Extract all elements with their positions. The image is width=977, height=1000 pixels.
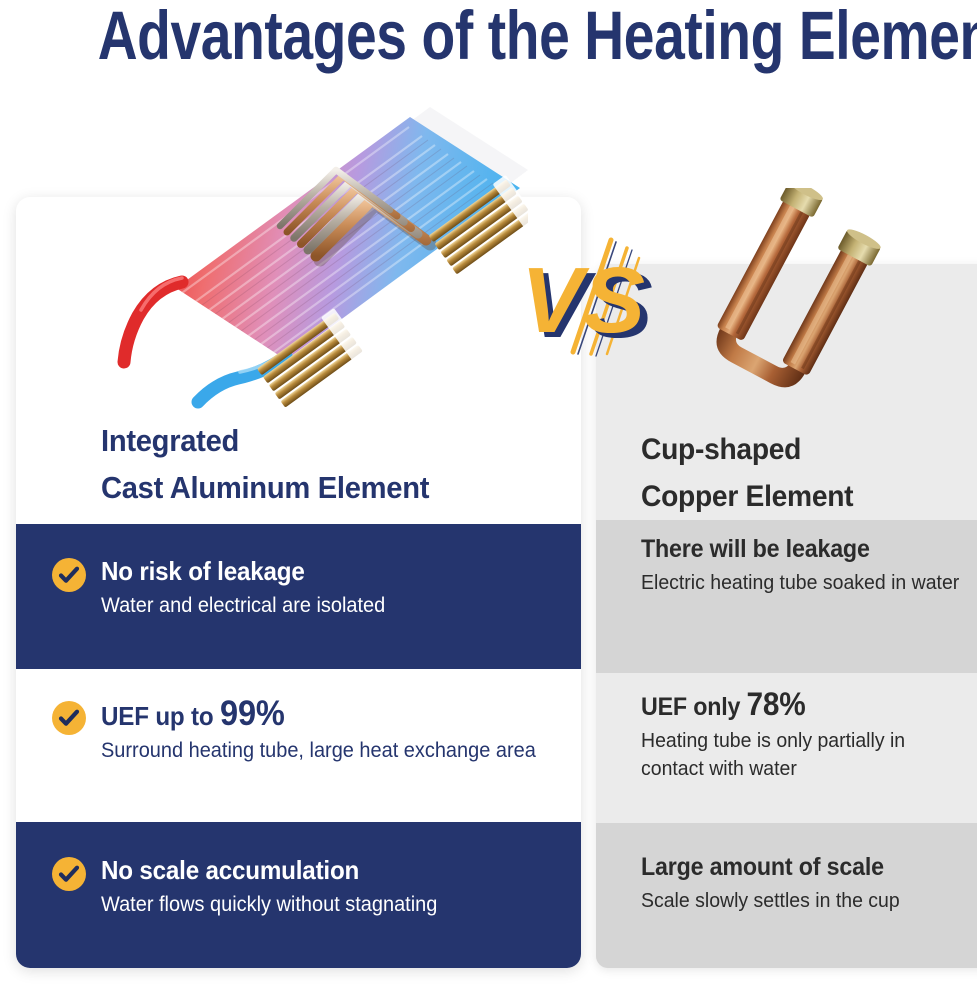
left-row-2-title-prefix: UEF up to <box>101 701 220 731</box>
right-row-3: Large amount of scale Scale slowly settl… <box>641 852 977 915</box>
right-row-3-subtitle: Scale slowly settles in the cup <box>641 887 969 915</box>
check-circle-icon <box>52 701 86 735</box>
left-row-3: No scale accumulation Water flows quickl… <box>52 854 577 919</box>
left-row-2: UEF up to 99% Surround heating tube, lar… <box>52 698 577 765</box>
check-circle-icon <box>52 558 86 592</box>
right-row-2-percentage: 78% <box>747 686 806 722</box>
left-heading-line-2: Cast Aluminum Element <box>101 464 543 511</box>
left-row-3-subtitle: Water flows quickly without stagnating <box>101 890 553 919</box>
left-row-2-subtitle: Surround heating tube, large heat exchan… <box>101 736 553 765</box>
left-row-1-subtitle: Water and electrical are isolated <box>101 591 553 620</box>
left-row-2-percentage: 99% <box>220 694 285 733</box>
left-heading-line-1: Integrated <box>101 417 543 464</box>
right-heading-line-2: Copper Element <box>641 473 965 520</box>
right-row-2-title: UEF only 78% <box>641 689 962 722</box>
left-row-1-title: No risk of leakage <box>101 555 544 587</box>
right-row-2-subtitle: Heating tube is only partially in contac… <box>641 727 969 783</box>
right-heading-line-1: Cup-shaped <box>641 426 965 473</box>
right-panel-heading: Cup-shaped Copper Element <box>641 426 965 520</box>
left-card-heading: Integrated Cast Aluminum Element <box>101 417 543 511</box>
right-row-1-subtitle: Electric heating tube soaked in water <box>641 569 969 597</box>
cup-shaped-copper-element-image <box>668 188 908 418</box>
left-row-3-title: No scale accumulation <box>101 854 544 886</box>
left-row-2-title: UEF up to 99% <box>101 698 544 732</box>
right-row-1: There will be leakage Electric heating t… <box>641 534 977 597</box>
right-row-2-title-prefix: UEF only <box>641 693 747 721</box>
left-row-1: No risk of leakage Water and electrical … <box>52 555 577 620</box>
right-row-1-title: There will be leakage <box>641 534 962 564</box>
right-row-2: UEF only 78% Heating tube is only partia… <box>641 689 977 783</box>
cast-aluminum-heating-element-image <box>58 92 528 412</box>
page-title: Advantages of the Heating Element <box>98 0 880 76</box>
check-circle-icon <box>52 857 86 891</box>
right-row-3-title: Large amount of scale <box>641 852 962 882</box>
